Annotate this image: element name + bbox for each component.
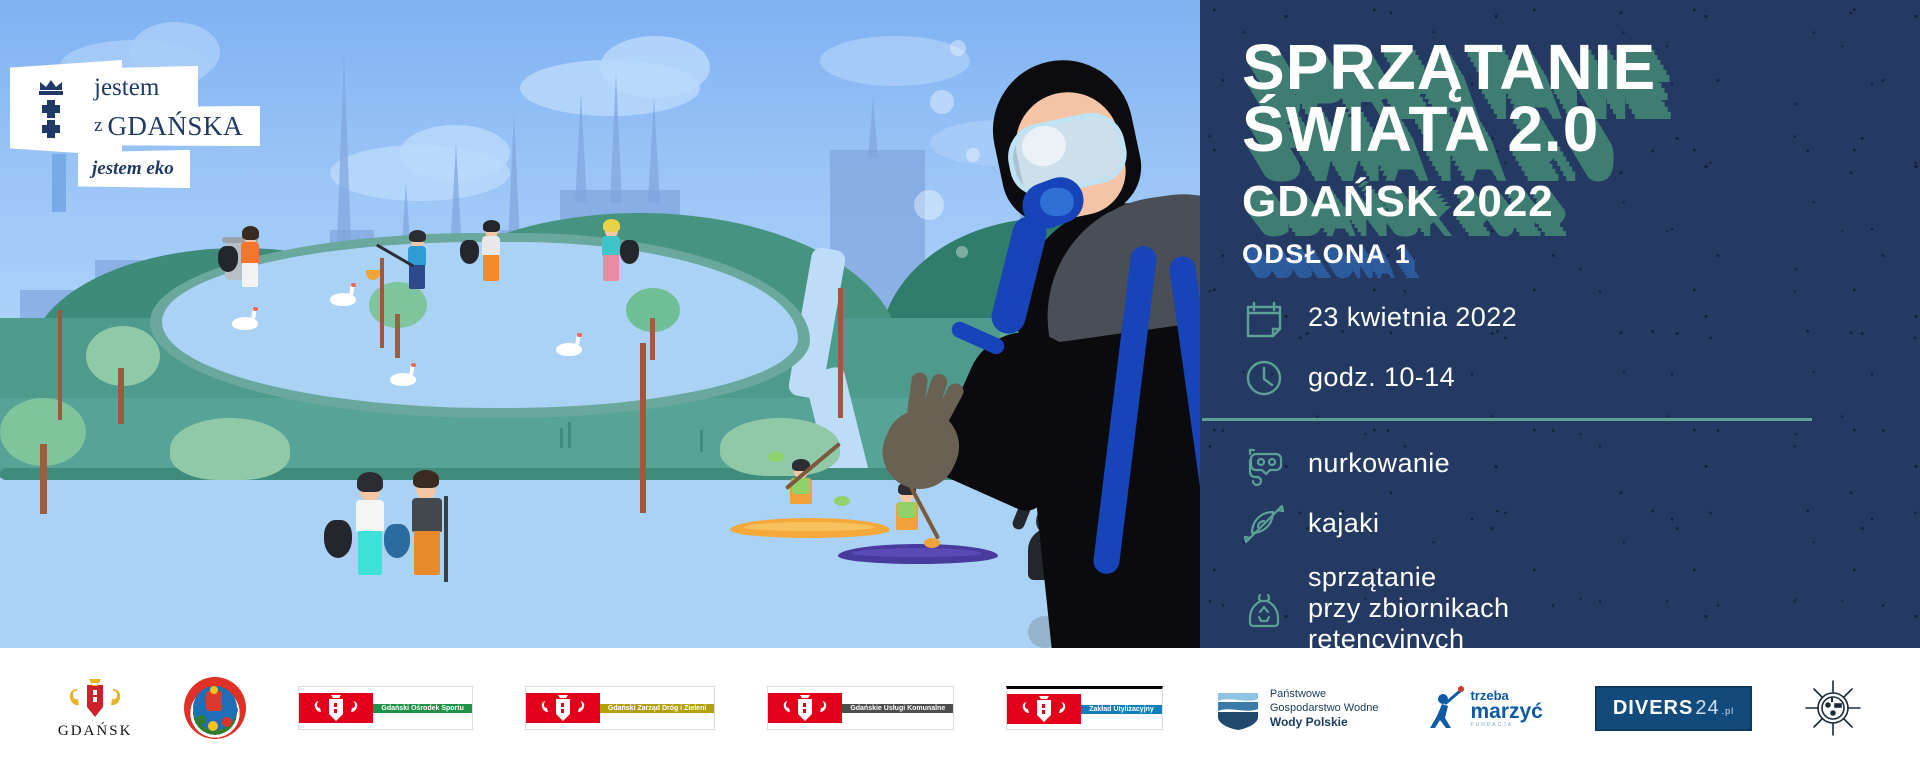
panel-titles: SPRZĄTANIE ŚWIATA 2.0 GDAŃSK 2022 ODSŁON… (1242, 36, 1882, 270)
detail-date-row: 23 kwietnia 2022 (1242, 296, 1882, 340)
activity-cleanup-row: sprzątanie przy zbiornikach retencyjnych (1242, 562, 1882, 648)
air-bubble (950, 40, 966, 56)
gdanskie-uslugi-komunalne-logo: Gdańskie Usługi Komunalne (767, 686, 954, 730)
bare-tree (838, 288, 843, 418)
bush (170, 418, 290, 480)
ship-helm-logo (1804, 679, 1862, 737)
wody-polskie-logo: Państwowe Gospodarstwo Wodne Wody Polski… (1215, 685, 1379, 731)
detail-time-label: godz. 10-14 (1308, 356, 1455, 393)
logo-line2-prefix: z (94, 115, 102, 137)
kayak-paddle-icon (1242, 502, 1286, 546)
swan (390, 373, 416, 386)
logo-line1: jestem (94, 74, 159, 102)
bare-tree (640, 343, 646, 513)
detail-date-label: 23 kwietnia 2022 (1308, 296, 1517, 333)
title-line-2: ŚWIATA 2.0 (1242, 98, 1882, 160)
grass-tuft (560, 428, 563, 448)
edition-label: ODSŁONA 1 (1242, 238, 1882, 270)
title-line-1: SPRZĄTANIE (1242, 36, 1882, 98)
bare-tree (380, 258, 384, 348)
sprzatanie-swiata-circle-logo (184, 677, 246, 739)
logo-line2: GDAŃSKA (107, 111, 243, 142)
air-bubble (966, 148, 980, 162)
sponsor-footer: GDAŃSK (0, 648, 1920, 768)
jestem-z-gdanska-logo: jestem z GDAŃSKA jestem eko (10, 60, 260, 185)
swan (232, 317, 258, 330)
detail-time-row: godz. 10-14 (1242, 356, 1882, 400)
trzeba-marzyc-logo: trzeba marzyć FUNDACJA (1430, 685, 1542, 731)
activity-cleanup-label: sprzątanie przy zbiornikach retencyjnych (1308, 562, 1509, 648)
guk-text: Gdańskie Usługi Komunalne (850, 704, 945, 713)
bush (720, 418, 840, 476)
divers-text: DIVERS (1613, 697, 1693, 720)
gdansk-logo-text: GDAŃSK (58, 723, 133, 740)
clock-icon (1242, 356, 1286, 400)
trash-bag-recycling-icon (1242, 587, 1286, 631)
air-bubble (914, 190, 944, 220)
poster-root: jestem z GDAŃSKA jestem eko SPRZĄTANIE Ś… (0, 0, 1920, 768)
gdansk-crown-crosses-icon (34, 78, 78, 145)
subtitle-city-year: GDAŃSK 2022 (1242, 176, 1882, 228)
ship-helm-icon (1804, 679, 1862, 737)
gdansk-crest-icon (67, 677, 123, 721)
activity-kayak-row: kajaki (1242, 502, 1882, 546)
osrodek-sportu-text: Gdański Ośrodek Sportu (381, 704, 463, 713)
wody-line3: Wody Polskie (1270, 715, 1348, 729)
bare-tree (58, 310, 62, 420)
grass-tuft (700, 430, 703, 452)
logo-line3: jestem eko (92, 158, 174, 180)
calendar-icon (1242, 296, 1286, 340)
activity-kayak-label: kajaki (1308, 502, 1379, 539)
reaching-figure-icon (1430, 685, 1466, 731)
gdanski-zarzad-drog-i-zieleni-logo: Gdański Zarząd Dróg i Zieleni (525, 686, 715, 730)
diving-mask-snorkel-icon (1242, 442, 1286, 486)
gdansk-crest-logo: GDAŃSK (58, 677, 133, 740)
zu-text: Zakład Utylizacyjny (1089, 705, 1154, 714)
activity-diving-row: nurkowanie (1242, 442, 1882, 486)
divers-tld: .pl (1722, 706, 1735, 716)
air-bubble (930, 90, 954, 114)
gdanski-osrodek-sportu-logo: Gdański Ośrodek Sportu (298, 686, 472, 730)
event-details-list: 23 kwietnia 2022 godz. 10-14 (1242, 296, 1882, 648)
wody-line1: Państwowe (1270, 687, 1379, 701)
section-divider (1202, 418, 1812, 421)
divers24-logo: DIVERS 24 .pl (1595, 686, 1752, 731)
divers-suffix: 24 (1695, 697, 1719, 720)
marzyc-text: marzyć (1470, 702, 1542, 722)
zaklad-utylizacyjny-logo: Zakład Utylizacyjny (1006, 686, 1163, 730)
wody-line2: Gospodarstwo Wodne (1270, 701, 1379, 715)
grass-tuft (568, 422, 571, 448)
swan (330, 293, 356, 306)
gdansk-crest-white-icon (313, 693, 359, 723)
zdiz-text: Gdański Zarząd Dróg i Zieleni (608, 704, 706, 713)
air-bubble (956, 246, 968, 258)
wody-polskie-waves-icon (1215, 685, 1261, 731)
regulator-inner (1040, 188, 1074, 216)
swan (556, 343, 582, 356)
activity-diving-label: nurkowanie (1308, 442, 1450, 479)
event-info-panel: SPRZĄTANIE ŚWIATA 2.0 GDAŃSK 2022 ODSŁON… (1200, 0, 1920, 648)
